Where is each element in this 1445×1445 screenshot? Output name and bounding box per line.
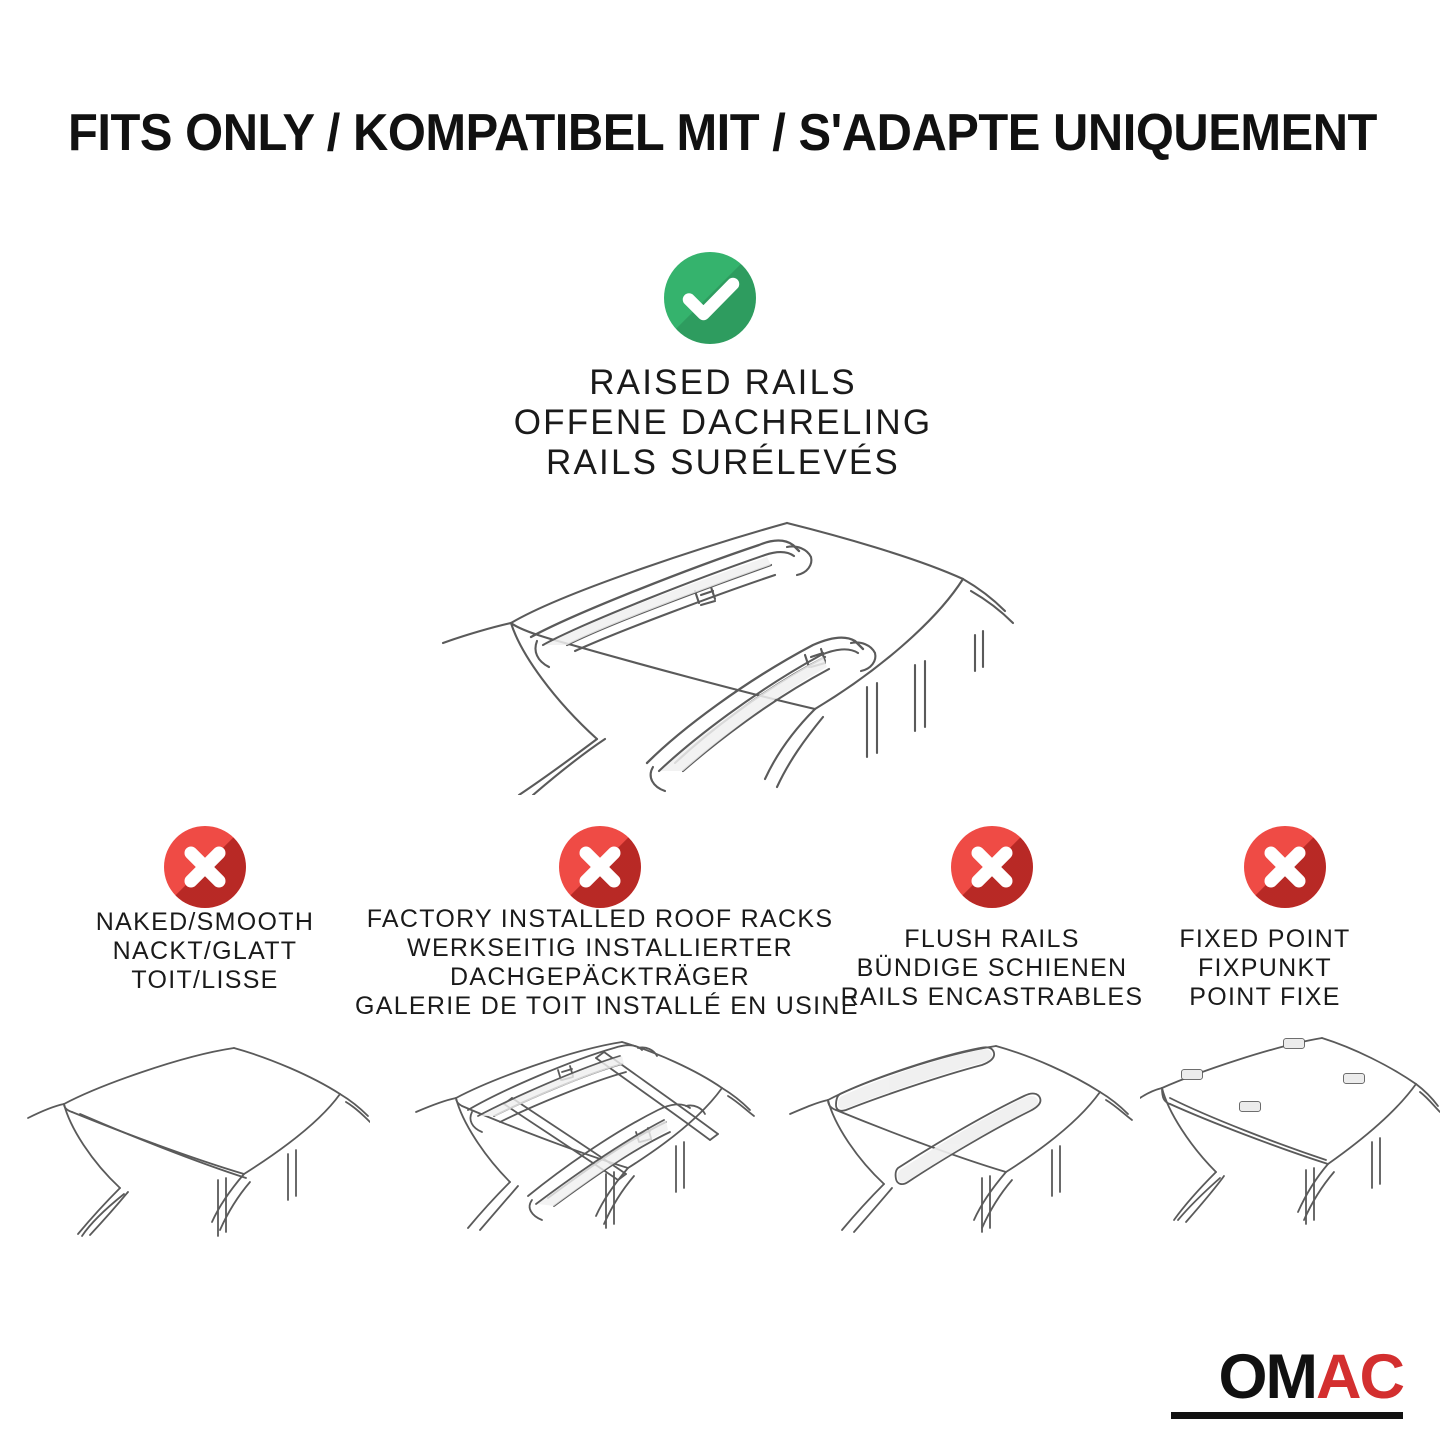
caption-line: NAKED/SMOOTH <box>30 908 380 937</box>
cross-icon <box>164 826 246 908</box>
incompatible-caption-flush-rails: FLUSH RAILS BÜNDIGE SCHIENEN RAILS ENCAS… <box>822 925 1162 1012</box>
omac-logo: OM AC <box>1219 1346 1403 1409</box>
car-roof-flush-rails-illustration <box>780 1028 1140 1243</box>
page-title: FITS ONLY / KOMPATIBEL MIT / S'ADAPTE UN… <box>43 104 1401 162</box>
incompatible-caption-fixed-point: FIXED POINT FIXPUNKT POINT FIXE <box>1125 925 1405 1012</box>
compatible-caption-line-3: RAILS SURÉLEVÉS <box>373 443 1073 483</box>
compatibility-infographic: FITS ONLY / KOMPATIBEL MIT / S'ADAPTE UN… <box>0 0 1445 1445</box>
cross-icon <box>951 826 1033 908</box>
check-icon <box>664 252 756 344</box>
caption-line: FIXED POINT <box>1125 925 1405 954</box>
compatible-caption: RAISED RAILS OFFENE DACHRELING RAILS SUR… <box>373 363 1073 483</box>
caption-line: WERKSEITIG INSTALLIERTER <box>355 934 845 963</box>
caption-line: NACKT/GLATT <box>30 937 380 966</box>
caption-line: FACTORY INSTALLED ROOF RACKS <box>355 905 845 934</box>
car-roof-naked-smooth-illustration <box>20 1028 370 1243</box>
caption-line: GALERIE DE TOIT INSTALLÉ EN USINE <box>355 992 845 1021</box>
logo-text-om: OM <box>1219 1346 1316 1409</box>
caption-line: DACHGEPÄCKTRÄGER <box>355 963 845 992</box>
incompatible-caption-factory-rack: FACTORY INSTALLED ROOF RACKS WERKSEITIG … <box>355 905 845 1021</box>
car-roof-factory-rack-illustration <box>400 1018 760 1243</box>
compatible-caption-line-2: OFFENE DACHRELING <box>373 403 1073 443</box>
caption-line: FLUSH RAILS <box>822 925 1162 954</box>
incompatible-caption-naked-smooth: NAKED/SMOOTH NACKT/GLATT TOIT/LISSE <box>30 908 380 995</box>
logo-underline <box>1171 1412 1403 1419</box>
caption-line: FIXPUNKT <box>1125 954 1405 983</box>
caption-line: BÜNDIGE SCHIENEN <box>822 954 1162 983</box>
logo-text-ac: AC <box>1316 1346 1403 1409</box>
caption-line: TOIT/LISSE <box>30 966 380 995</box>
car-roof-fixed-point-illustration <box>1140 1028 1440 1243</box>
caption-line: RAILS ENCASTRABLES <box>822 983 1162 1012</box>
caption-line: POINT FIXE <box>1125 983 1405 1012</box>
cross-icon <box>559 826 641 908</box>
cross-icon <box>1244 826 1326 908</box>
car-roof-raised-rails-illustration <box>415 495 1045 795</box>
compatible-caption-line-1: RAISED RAILS <box>373 363 1073 403</box>
